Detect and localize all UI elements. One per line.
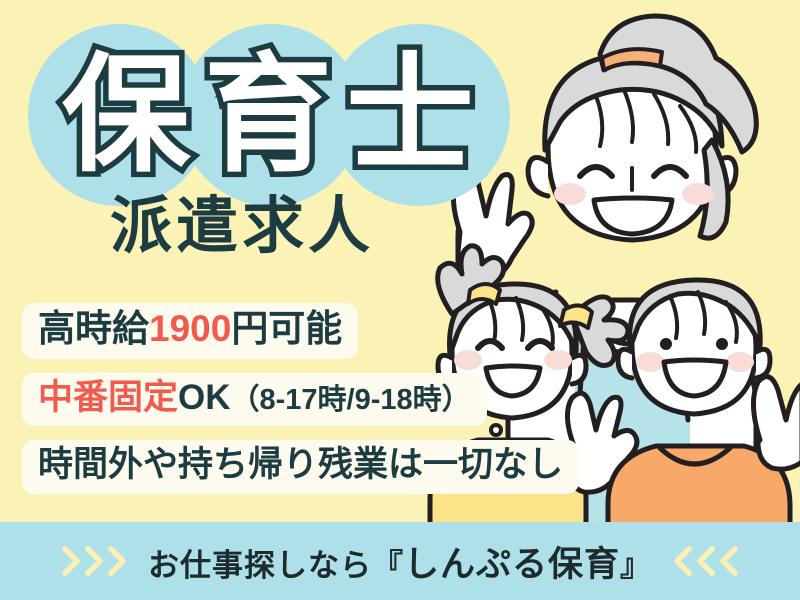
job-ad-banner: 保育士 派遣求人 高時給1900円可能 中番固定OK（8-17時/9-18時） …	[0, 0, 800, 600]
bottom-banner-brand: しんぷる保育	[404, 545, 620, 584]
chevrons-right-group	[61, 546, 126, 576]
feature-pill-wage: 高時給1900円可能	[22, 303, 358, 359]
feature-segment: （8-17時/9-18時）	[231, 384, 471, 416]
feature-wage-line: 高時給1900円可能	[38, 308, 342, 349]
feature-segment: 中番固定	[38, 378, 178, 417]
bottom-banner-suffix: 』	[620, 548, 652, 583]
feature-pill-overtime: 時間外や持ち帰り残業は一切なし	[22, 440, 579, 494]
feature-segment: 時間外や持ち帰り残業は一切なし	[38, 445, 563, 484]
feature-segment: 円可能	[231, 308, 342, 349]
feature-segment: OK	[178, 378, 231, 417]
chevron-left-icon	[697, 546, 716, 576]
headline-subtitle: 派遣求人	[110, 196, 374, 258]
feature-pill-shift: 中番固定OK（8-17時/9-18時）	[22, 373, 487, 427]
feature-overtime-line: 時間外や持ち帰り残業は一切なし	[38, 445, 563, 484]
feature-segment: 高時給	[38, 308, 149, 349]
chevron-left-icon	[674, 546, 693, 576]
bottom-banner-prefix: お仕事探しなら『	[148, 548, 404, 583]
chevron-left-icon	[720, 546, 739, 576]
headline-title: 保育士	[62, 52, 488, 180]
chevron-right-icon	[107, 546, 126, 576]
feature-shift-line: 中番固定OK（8-17時/9-18時）	[38, 378, 471, 417]
chevrons-left-group	[674, 546, 739, 576]
feature-list: 高時給1900円可能 中番固定OK（8-17時/9-18時） 時間外や持ち帰り残…	[22, 303, 582, 508]
headline-title-wrap: 保育士	[40, 36, 510, 196]
feature-segment: 1900	[149, 308, 231, 349]
chevron-right-icon	[61, 546, 80, 576]
bottom-banner-text: お仕事探しなら『しんぷる保育』	[148, 536, 652, 587]
bottom-banner: お仕事探しなら『しんぷる保育』	[0, 522, 800, 600]
chevron-right-icon	[84, 546, 103, 576]
